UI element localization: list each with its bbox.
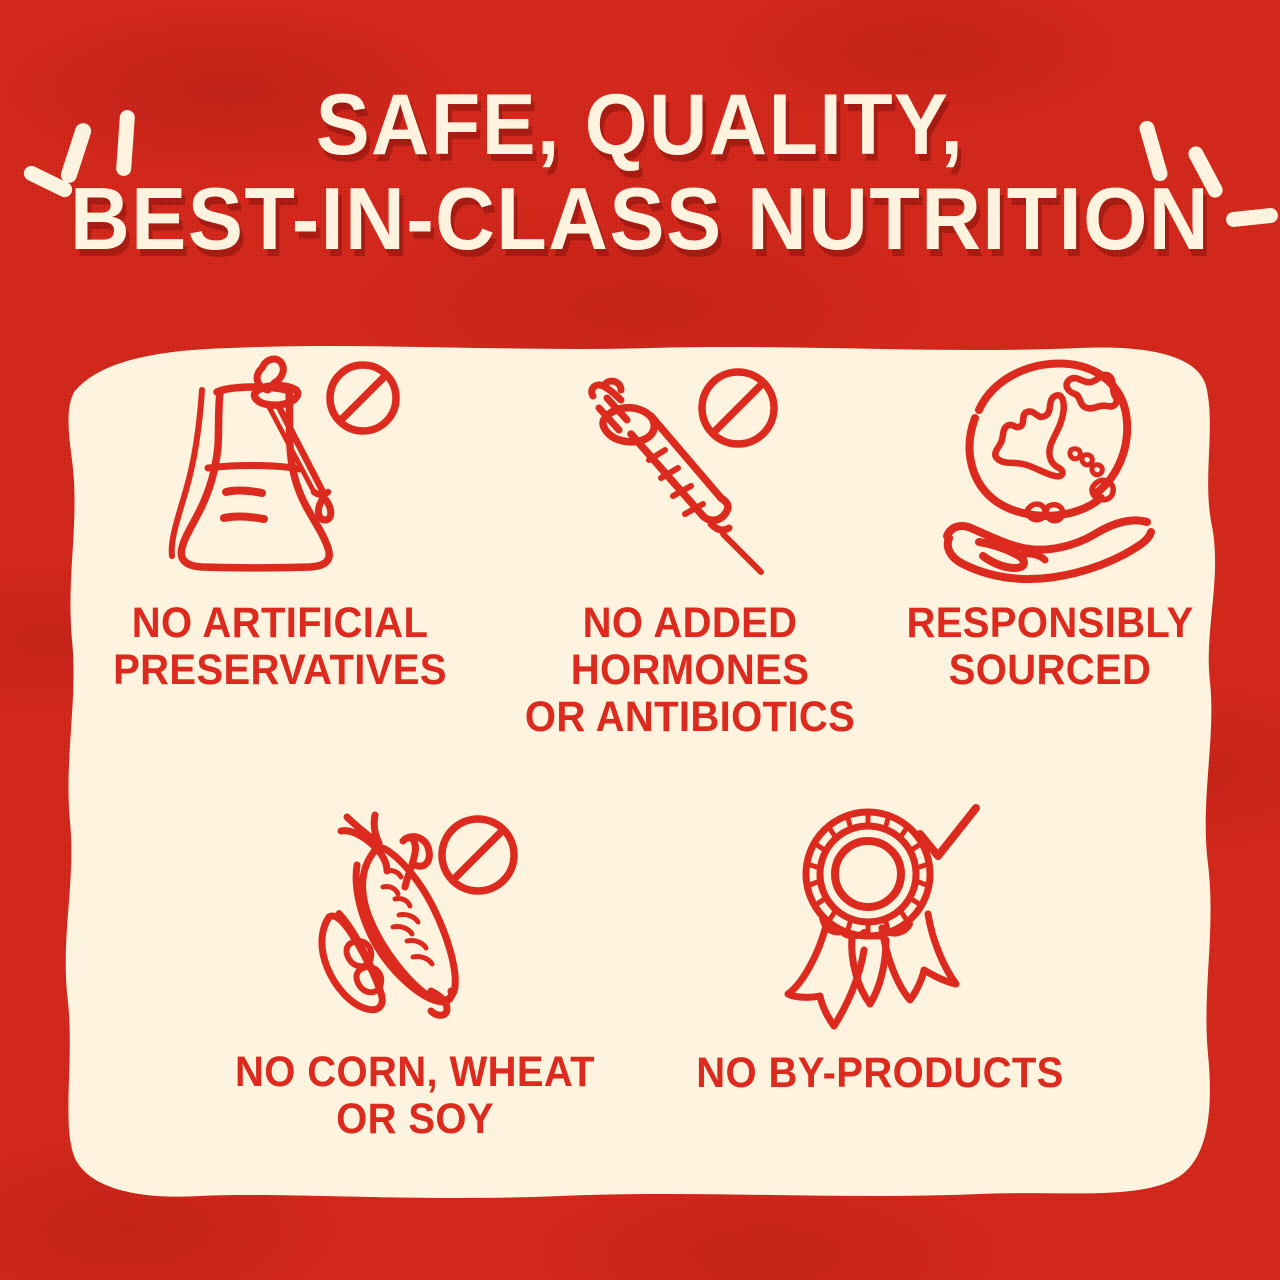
page-title-line-2: BEST-IN-CLASS NUTRITION	[38, 172, 1241, 266]
benefits-panel: NO ARTIFICIAL PRESERVATIVES	[40, 330, 1240, 1230]
sparkle-dashes-right-icon	[1122, 108, 1272, 238]
infographic-canvas: SAFE, QUALITY, BEST-IN-CLASS NUTRITION	[0, 0, 1280, 1280]
flask-dropper-prohibited-icon	[150, 350, 410, 580]
benefit-caption: NO ARTIFICIAL PRESERVATIVES	[85, 600, 476, 694]
benefit-no-artificial-preservatives: NO ARTIFICIAL PRESERVATIVES	[70, 350, 490, 694]
benefit-responsibly-sourced: RESPONSIBLY SOURCED	[885, 338, 1215, 694]
benefit-caption: NO BY-PRODUCTS	[685, 1050, 1076, 1097]
benefit-caption: NO CORN, WHEAT OR SOY	[220, 1049, 611, 1143]
benefit-caption: NO ADDED HORMONES OR ANTIBIOTICS	[495, 600, 886, 741]
syringe-prohibited-icon	[575, 350, 805, 580]
page-title-line-1: SAFE, QUALITY,	[38, 78, 1241, 172]
benefit-no-by-products: NO BY-PRODUCTS	[670, 798, 1090, 1097]
benefit-no-corn-wheat-or-soy: NO CORN, WHEAT OR SOY	[205, 795, 625, 1143]
globe-in-hand-icon	[935, 338, 1165, 580]
award-rosette-check-icon	[764, 798, 996, 1036]
sparkle-dashes-left-icon	[18, 96, 168, 226]
corn-soybean-prohibited-icon	[295, 795, 535, 1035]
page-title: SAFE, QUALITY, BEST-IN-CLASS NUTRITION	[0, 78, 1280, 266]
benefit-caption: RESPONSIBLY SOURCED	[897, 600, 1204, 694]
benefit-no-added-hormones: NO ADDED HORMONES OR ANTIBIOTICS	[480, 350, 900, 741]
